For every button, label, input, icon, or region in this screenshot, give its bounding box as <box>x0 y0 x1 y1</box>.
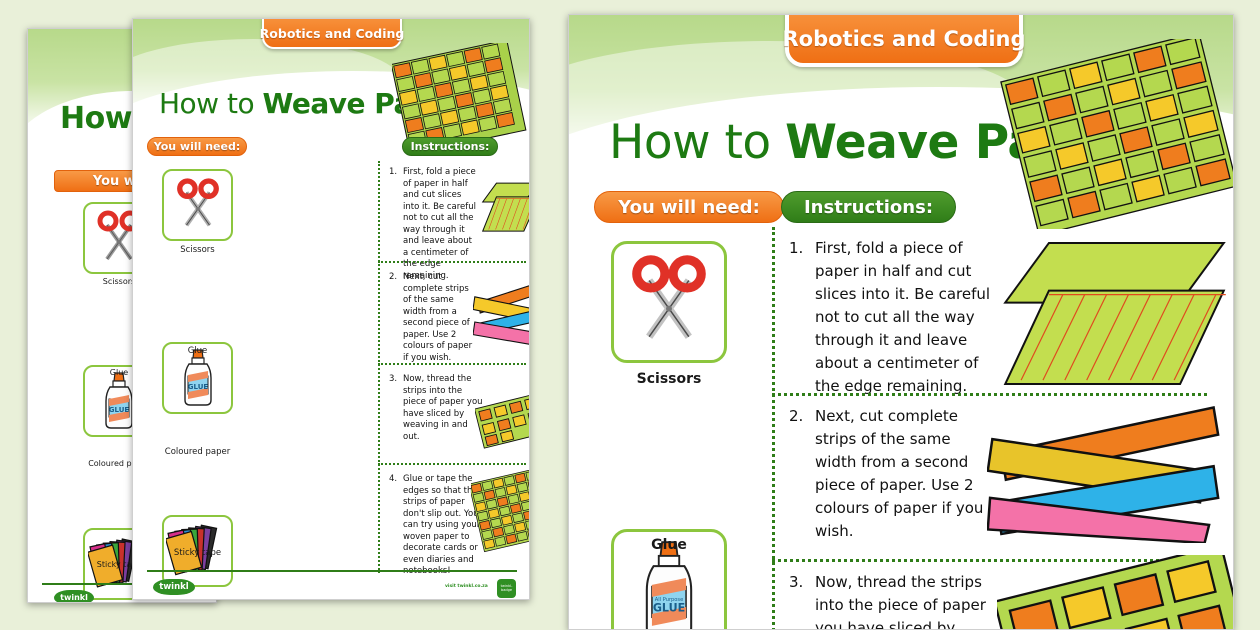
middle-card-material-label-scissors: Scissors <box>162 245 233 255</box>
front-card-materials-heading: You will need: <box>594 191 784 223</box>
front-card-material-label-scissors: Scissors <box>611 371 727 387</box>
middle-card-step-4-number: 4. <box>389 474 403 486</box>
front-card-material-label-glue: Glue <box>611 537 727 553</box>
middle-card-step-3-number: 3. <box>389 374 403 386</box>
front-card-step-2-number: 2. <box>789 405 815 428</box>
front-card-step-1-text: First, fold a piece of paper in half and… <box>815 237 995 398</box>
front-card-step-3-image-weaving-icon <box>997 555 1234 630</box>
screenshot-stage: How t You will need: Scissors <box>0 0 1260 630</box>
front-card-step-3-text: Now, thread the strips into the piece of… <box>815 571 1005 630</box>
front-card-step-3-number: 3. <box>789 571 815 594</box>
middle-card-footer-badge-logo[interactable]: twinkl-badge <box>497 579 516 598</box>
front-card-step-2-text: Next, cut complete strips of the same wi… <box>815 405 985 543</box>
svg-text:GLUE: GLUE <box>653 601 685 614</box>
middle-card-material-box-scissors[interactable] <box>162 169 233 241</box>
middle-card-step-3-text: Now, thread the strips into the piece of… <box>403 374 485 443</box>
middle-card-step-separator-3 <box>378 463 526 465</box>
glue-bottle-icon: GLUE <box>102 371 136 431</box>
middle-card-step-2-image-paper-strips-icon <box>473 277 530 349</box>
middle-card-step-1-number: 1. <box>389 167 403 179</box>
middle-card-materials-heading: You will need: <box>147 137 247 156</box>
middle-card-topic-badge[interactable]: Robotics and Coding <box>262 18 402 49</box>
glue-bottle-icon: GLUE <box>181 347 215 409</box>
middle-card-instructions-rail <box>378 161 380 573</box>
middle-card-material-label-paper: Coloured paper <box>152 447 243 457</box>
front-card-step-2-image-paper-strips-icon <box>987 403 1234 543</box>
front-card-step-1-number: 1. <box>789 237 815 260</box>
front-card-hero-woven-paper-icon <box>999 39 1234 229</box>
front-card-step-separator-1 <box>772 393 1207 396</box>
middle-card-step-1-image-sliced-paper-icon <box>481 179 530 237</box>
middle-card-step-2-number: 2. <box>389 272 403 284</box>
middle-card-material-label-glue: Glue <box>162 346 233 356</box>
svg-text:GLUE: GLUE <box>109 406 130 414</box>
middle-card-material-label-tape: Sticky tape <box>157 548 238 558</box>
front-card-topic-badge[interactable]: Robotics and Coding <box>785 14 1023 67</box>
scissors-icon <box>626 252 712 352</box>
middle-card-step-4-image-woven-paper-icon <box>471 467 530 557</box>
middle-card-footer-rule <box>147 570 517 572</box>
middle-card-step-3-image-weaving-icon <box>475 391 530 451</box>
front-card-instructions-heading: Instructions: <box>781 191 956 223</box>
middle-card[interactable]: Robotics and Coding How to Weave Paper <box>132 18 530 600</box>
middle-card-step-1-text: First, fold a piece of paper in half and… <box>403 167 479 282</box>
svg-text:GLUE: GLUE <box>187 383 208 391</box>
front-card-step-1-image-sliced-paper-icon <box>994 237 1234 392</box>
middle-card-twinkl-logo[interactable]: twinkl <box>153 579 195 595</box>
back-card-twinkl-logo[interactable]: twinkl <box>54 590 94 603</box>
middle-card-instructions-heading: Instructions: <box>402 137 498 156</box>
middle-card-step-2-text: Next, cut complete strips of the same wi… <box>403 272 475 364</box>
middle-card-footer-url[interactable]: visit twinkl.co.za <box>445 584 488 589</box>
front-card-instructions-rail <box>772 227 775 630</box>
front-card-material-box-scissors[interactable] <box>611 241 727 363</box>
scissors-icon <box>173 176 223 234</box>
middle-card-step-separator-2 <box>378 363 526 365</box>
middle-card-step-separator-1 <box>378 261 526 263</box>
front-card[interactable]: Robotics and Coding How to Weave Paper <box>568 14 1234 630</box>
